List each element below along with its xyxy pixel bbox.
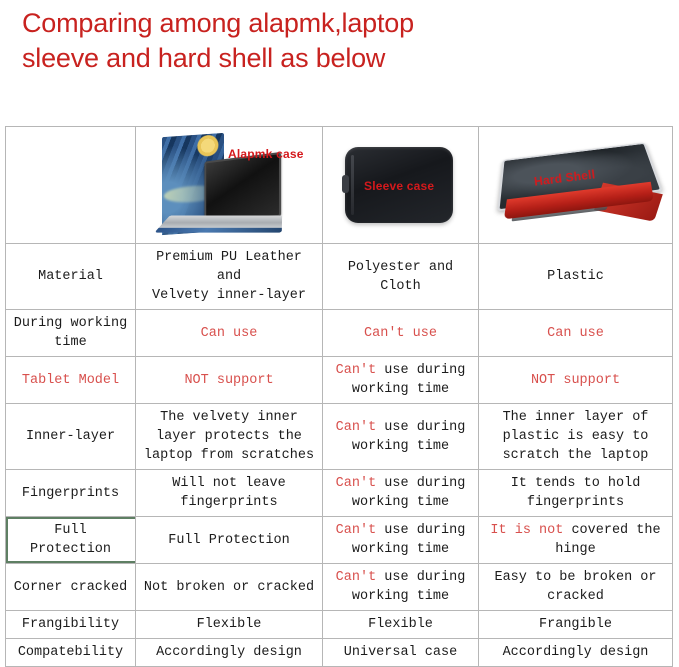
row-header-cell[interactable]: Fingerprints (6, 470, 136, 517)
cell-red-text: Can use (201, 326, 258, 341)
table-row: Inner-layerThe velvety inner layer prote… (6, 404, 673, 470)
row-header-cell[interactable]: Compatebility (6, 639, 136, 667)
cell-alapmk: Can use (136, 310, 323, 357)
hard-shell-photo: Hard Shell (479, 127, 672, 243)
row-header-cell[interactable]: Corner cracked (6, 564, 136, 611)
cell-red-text: NOT support (184, 373, 273, 388)
comparison-table: Alapmk case Sleeve case (5, 126, 673, 667)
header-cell-hardshell: Hard Shell (479, 127, 673, 244)
cell-alapmk: Accordingly design (136, 639, 323, 667)
cell-hardshell: It tends to hold fingerprints (479, 470, 673, 517)
cell-sleeve: Can't use (323, 310, 479, 357)
cell-red-text: It is not (490, 523, 563, 538)
row-header-cell[interactable]: During working time (6, 310, 136, 357)
cell-sleeve: Universal case (323, 639, 479, 667)
page-title: Comparing among alapmk,laptop sleeve and… (0, 0, 679, 76)
alapmk-case-label: Alapmk case (228, 145, 304, 164)
cell-red-text: Can't (336, 476, 377, 491)
cell-hardshell: It is not covered the hinge (479, 517, 673, 564)
cell-red-text: Can't (336, 570, 377, 585)
cell-hardshell: Plastic (479, 244, 673, 310)
cell-hardshell: Easy to be broken or cracked (479, 564, 673, 611)
row-header-cell[interactable]: Frangibility (6, 611, 136, 639)
alapmk-case-photo: Alapmk case (136, 127, 322, 243)
cell-alapmk: NOT support (136, 357, 323, 404)
table-row: CompatebilityAccordingly designUniversal… (6, 639, 673, 667)
cell-hardshell: Accordingly design (479, 639, 673, 667)
cell-sleeve: Can't use during working time (323, 404, 479, 470)
cell-hardshell: The inner layer of plastic is easy to sc… (479, 404, 673, 470)
cell-sleeve: Polyester and Cloth (323, 244, 479, 310)
row-header-cell[interactable]: Full Protection (6, 517, 136, 564)
cell-sleeve: Flexible (323, 611, 479, 639)
row-header-cell[interactable]: Tablet Model (6, 357, 136, 404)
cell-sleeve: Can't use during working time (323, 517, 479, 564)
table-row: FingerprintsWill not leave fingerprintsC… (6, 470, 673, 517)
cell-sleeve: Can't use during working time (323, 564, 479, 611)
row-header-cell[interactable]: Material (6, 244, 136, 310)
row-header-cell[interactable]: Inner-layer (6, 404, 136, 470)
cell-hardshell: Frangible (479, 611, 673, 639)
cell-red-text: Can't (336, 523, 377, 538)
cell-hardshell: NOT support (479, 357, 673, 404)
cell-alapmk: Will not leave fingerprints (136, 470, 323, 517)
comparison-table-container: Alapmk case Sleeve case (5, 126, 672, 667)
header-empty-cell (6, 127, 136, 244)
table-row: During working timeCan useCan't useCan u… (6, 310, 673, 357)
table-header-image-row: Alapmk case Sleeve case (6, 127, 673, 244)
cell-red-text: Can't (336, 363, 377, 378)
cell-sleeve: Can't use during working time (323, 470, 479, 517)
cell-red-text: NOT support (531, 373, 620, 388)
cell-alapmk: Full Protection (136, 517, 323, 564)
cell-hardshell: Can use (479, 310, 673, 357)
cell-sleeve: Can't use during working time (323, 357, 479, 404)
sleeve-case-label: Sleeve case (364, 177, 434, 196)
table-row: Tablet ModelNOT supportCan't use during … (6, 357, 673, 404)
cell-alapmk: Flexible (136, 611, 323, 639)
cell-alapmk: The velvety inner layer protects the lap… (136, 404, 323, 470)
table-row: FrangibilityFlexibleFlexibleFrangible (6, 611, 673, 639)
table-row: Corner crackedNot broken or crackedCan't… (6, 564, 673, 611)
header-cell-alapmk: Alapmk case (136, 127, 323, 244)
cell-red-text: Can't (336, 420, 377, 435)
cell-text: covered the hinge (555, 523, 660, 557)
laptop-base-shape (158, 216, 283, 230)
cell-alapmk: Premium PU Leather and Velvety inner-lay… (136, 244, 323, 310)
cell-red-text: Can't use (364, 326, 437, 341)
table-row: MaterialPremium PU Leather and Velvety i… (6, 244, 673, 310)
sleeve-case-photo: Sleeve case (323, 127, 478, 243)
table-row: Full ProtectionFull ProtectionCan't use … (6, 517, 673, 564)
header-cell-sleeve: Sleeve case (323, 127, 479, 244)
cell-alapmk: Not broken or cracked (136, 564, 323, 611)
cell-red-text: Can use (547, 326, 604, 341)
